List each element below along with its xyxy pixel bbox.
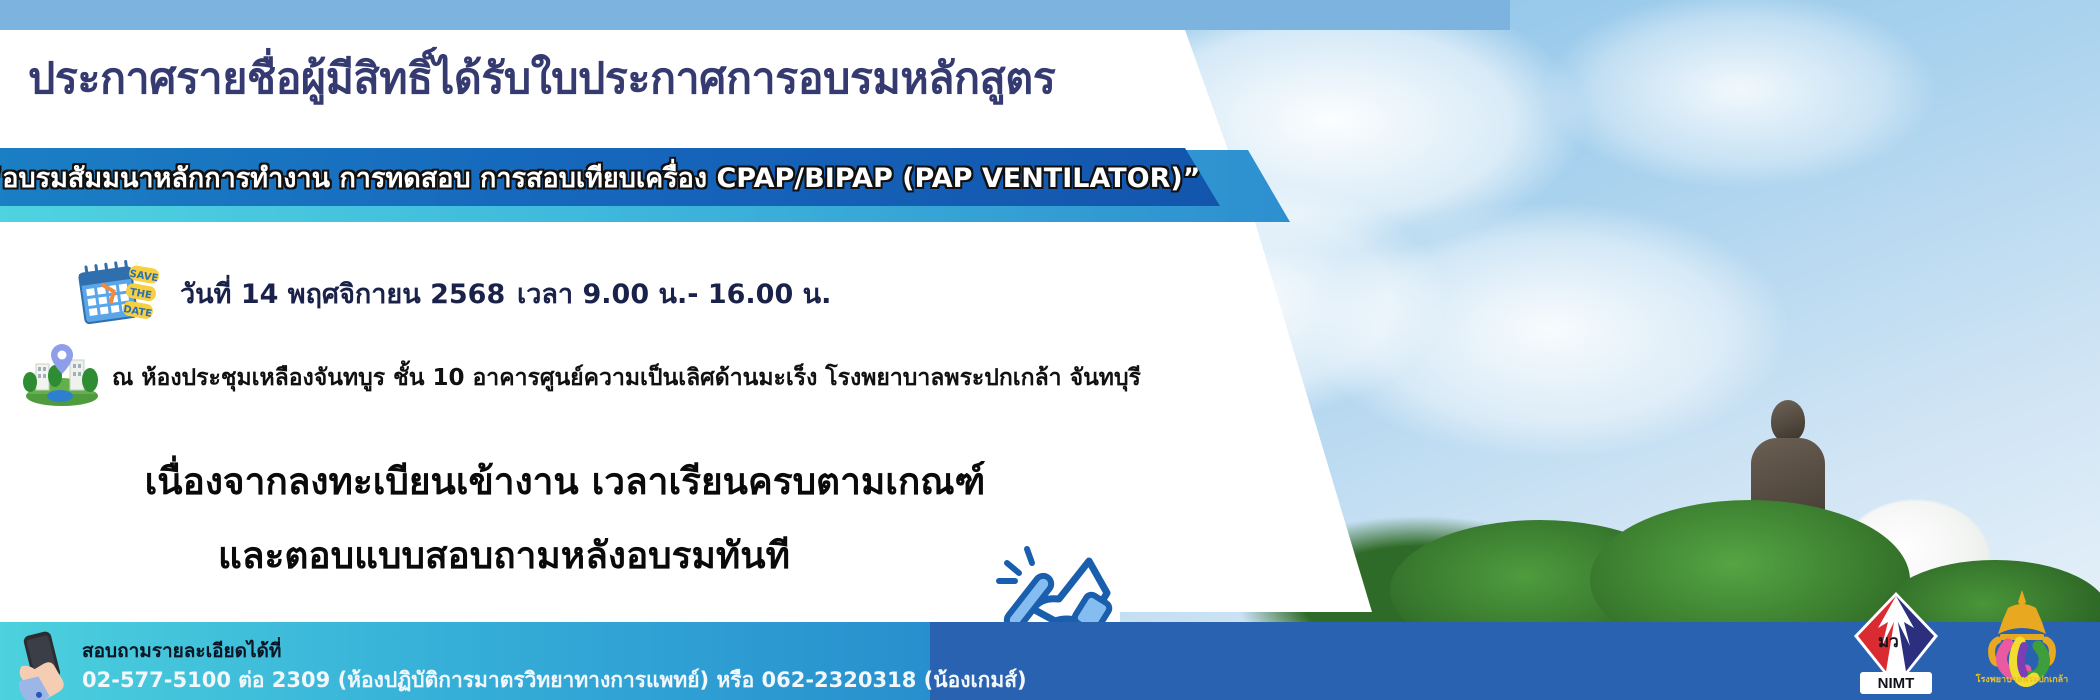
subtitle-ribbon: “อบรมสัมมนาหลักการทำงาน การทดสอบ การสอบเ…: [0, 148, 1220, 206]
message-line-2: และตอบแบบสอบถามหลังอบรมทันที: [0, 526, 1008, 585]
venue-row: ณ ห้องประชุมเหลืองจันทบูร ชั้น 10 อาคารศ…: [0, 342, 1260, 408]
hand-holding-phone-icon: [10, 630, 84, 700]
nimt-abbr-label: มว: [1878, 628, 1899, 655]
event-time: เวลา 9.00 น.- 16.00 น.: [517, 272, 831, 315]
event-venue: ณ ห้องประชุมเหลืองจันทบูร ชั้น 10 อาคารศ…: [112, 360, 1141, 396]
calendar-icon: SAVE THE DATE: [78, 260, 170, 326]
hospital-logo-label: โรงพยาบาลพระปกเกล้า: [1966, 672, 2078, 686]
contact-details: 02-577-5100 ต่อ 2309 (ห้องปฏิบัติการมาตร…: [82, 664, 1027, 697]
contact-title: สอบถามรายละเอียดได้ที่: [82, 636, 281, 666]
nimt-name-label: NIMT: [1860, 672, 1932, 694]
poster-root: โรงพยาบาลพระปกเกล้า โรงพยาบาลคุณภาพ HA: [0, 0, 2100, 700]
message-line-1: เนื่องจากลงทะเบียนเข้างาน เวลาเรียนครบตา…: [0, 452, 1130, 511]
page-title: ประกาศรายชื่อผู้มีสิทธิ์ได้รับใบประกาศกา…: [28, 44, 1055, 112]
location-pin-icon: [22, 342, 102, 406]
top-accent-bar: [0, 0, 1510, 30]
course-subtitle: “อบรมสัมมนาหลักการทำงาน การทดสอบ การสอบเ…: [0, 148, 1185, 206]
event-date: วันที่ 14 พฤศจิกายน 2568: [180, 272, 505, 315]
date-time-row: SAVE THE DATE วันที่ 14 พฤศจิกายน 2568 เ…: [0, 258, 1200, 328]
